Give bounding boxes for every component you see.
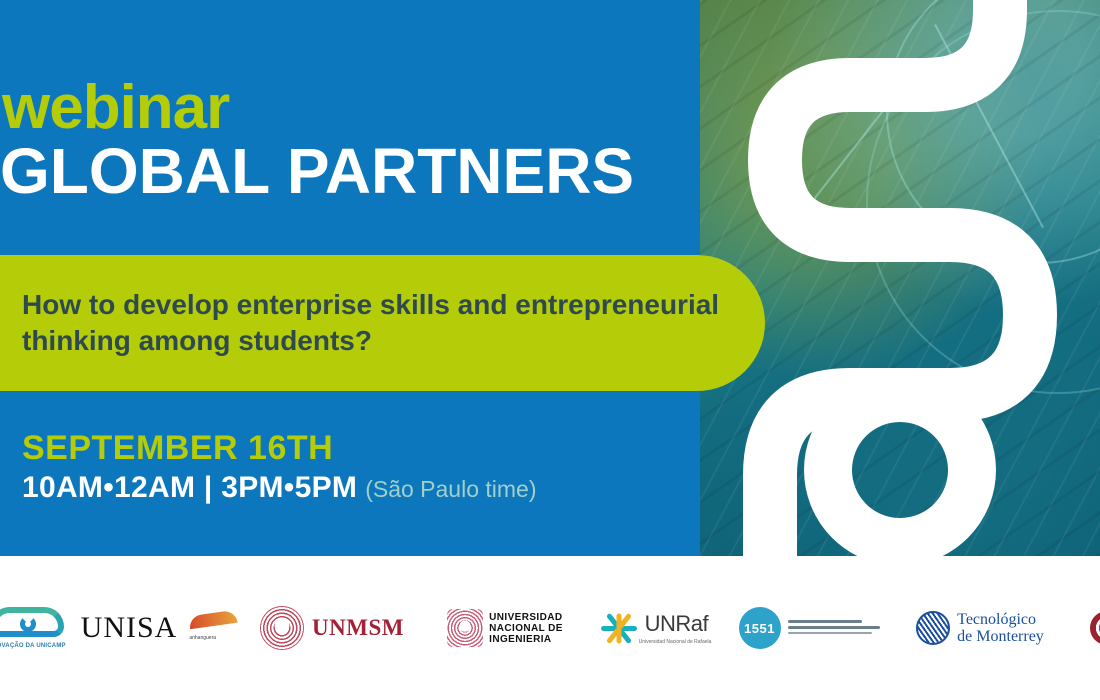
question-text: How to develop enterprise skills and ent… (0, 287, 722, 359)
unraf-wordmark: UNRaf (645, 611, 709, 636)
headline-block: webinar GLOBAL PARTNERS (0, 78, 720, 204)
unmsm-wordmark: UNMSM (312, 615, 404, 641)
uni-line-3: INGENIERIA (489, 634, 563, 645)
tec-monterrey-mark-icon (916, 611, 950, 645)
logo-unisa: UNISA anhanguera (84, 596, 234, 660)
serpentine-ribbon-graphic (700, 0, 1100, 556)
event-time: 10AM•12AM | 3PM•5PM (22, 471, 357, 504)
unisa-swoosh-icon: anhanguera (189, 613, 237, 643)
logo-inova-unicamp: INOVAÇÃO DA UNICAMP (0, 596, 70, 660)
inova-mark-icon (0, 607, 64, 641)
page-title: GLOBAL PARTNERS (0, 138, 720, 204)
unisa-wordmark: UNISA (81, 611, 178, 645)
logo-pucp: PUCP (1074, 596, 1100, 660)
logo-tec-monterrey: Tecnológico de Monterrey (900, 596, 1060, 660)
unmsm-crest-icon (260, 606, 304, 650)
webinar-banner: webinar GLOBAL PARTNERS How to develop e… (0, 0, 1100, 700)
event-timezone: (São Paulo time) (365, 476, 536, 502)
kicker-text: webinar (0, 78, 720, 138)
san-marcos-wordmark-lines (788, 620, 880, 637)
san-marcos-year-badge: 1551 (739, 607, 781, 649)
uni-line-1: UNIVERSIDAD (489, 612, 563, 623)
schedule-block: SEPTEMBER 16TH 10AM•12AM | 3PM•5PM (São … (22, 428, 722, 515)
logo-unraf: UNRaf Universidad Nacional de Rafaela (590, 596, 720, 660)
logo-san-marcos-1551: 1551 (734, 596, 884, 660)
event-date: SEPTEMBER 16TH (22, 428, 722, 468)
event-time-line: 10AM•12AM | 3PM•5PM (São Paulo time) (22, 470, 722, 515)
unraf-sub: Universidad Nacional de Rafaela (639, 639, 712, 645)
question-badge: How to develop enterprise skills and ent… (0, 255, 765, 391)
uni-wordmark: UNIVERSIDAD NACIONAL DE INGENIERIA (489, 612, 563, 645)
tec-line-1: Tecnológico (957, 611, 1044, 628)
tec-monterrey-wordmark: Tecnológico de Monterrey (957, 611, 1044, 645)
tec-line-2: de Monterrey (957, 628, 1044, 645)
logo-uni-ingenieria: UNIVERSIDAD NACIONAL DE INGENIERIA (430, 596, 580, 660)
logo-unmsm: UNMSM (252, 596, 412, 660)
blue-background-panel: webinar GLOBAL PARTNERS How to develop e… (0, 0, 1100, 556)
unraf-star-icon (599, 608, 639, 648)
pucp-crest-icon (1090, 611, 1100, 645)
uni-line-2: NACIONAL DE (489, 623, 563, 634)
partner-logo-strip: INOVAÇÃO DA UNICAMP UNISA anhanguera UNM… (0, 556, 1100, 700)
unisa-sub: anhanguera (189, 635, 216, 641)
inova-wordmark: INOVAÇÃO DA UNICAMP (0, 643, 66, 649)
uni-crest-icon (447, 609, 483, 647)
